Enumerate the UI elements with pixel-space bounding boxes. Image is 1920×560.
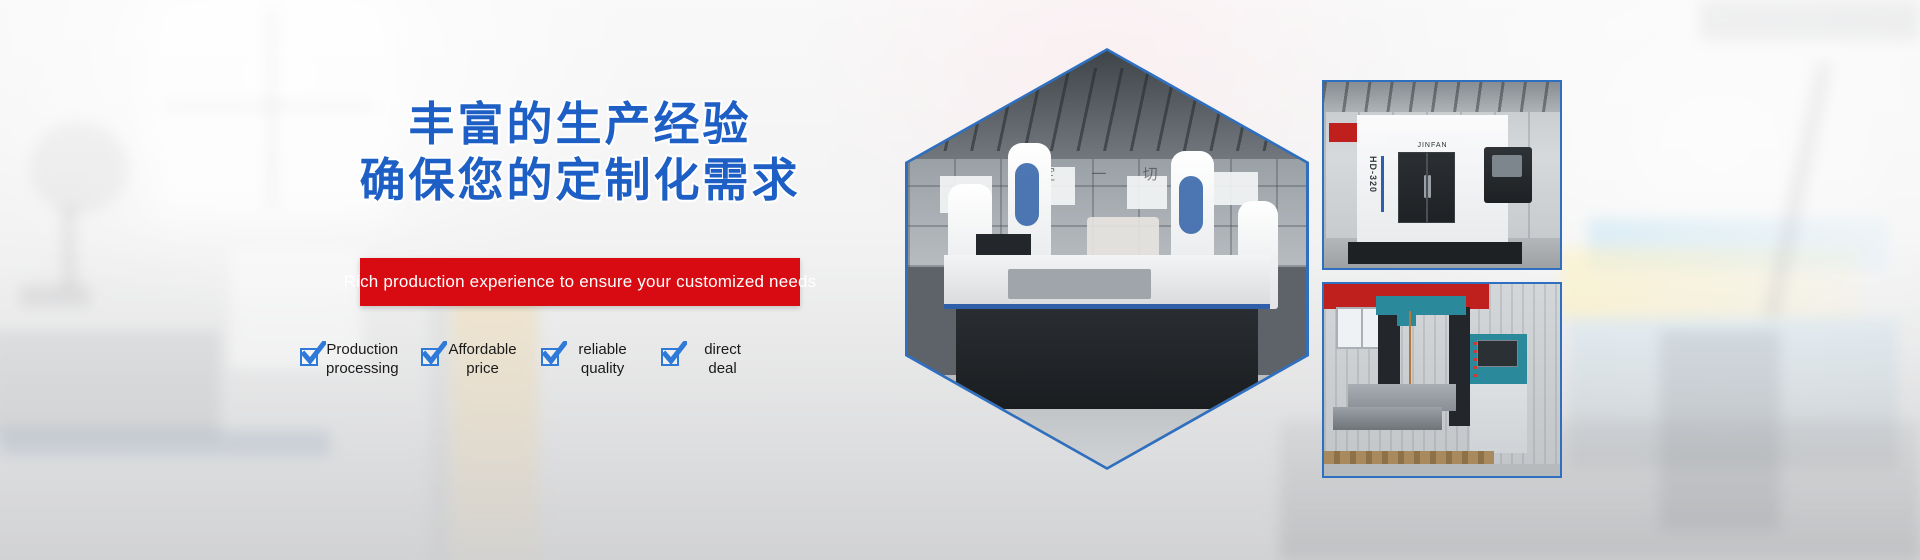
feature-item-direct-deal[interactable]: direct deal (661, 340, 759, 378)
mc-door-handle (1424, 175, 1427, 198)
side-photo-machining-center: JINFAN HD-320 (1322, 80, 1562, 270)
checkbox-checked-icon[interactable] (300, 348, 318, 366)
mc-ceiling-beam (1324, 82, 1560, 112)
subtitle-red-bar: Rich production experience to ensure you… (360, 258, 800, 306)
mc-blue-stripe (1381, 156, 1384, 212)
checkbox-checked-icon[interactable] (541, 348, 559, 366)
side-photo-edm-machine (1322, 282, 1562, 478)
feature-label: reliable quality (567, 340, 639, 378)
banner-copy-block: 丰富的生产经验 确保您的定制化需求 Rich production experi… (300, 96, 860, 208)
mc-plinth (1348, 242, 1523, 264)
feature-label: Production processing (326, 340, 399, 378)
machine-base (956, 301, 1258, 409)
workshop-window (1214, 172, 1258, 205)
machine-blue-panel (1179, 176, 1203, 234)
mc-brand-label: JINFAN (1414, 142, 1450, 149)
hexagon-photo-content: 定 一 切 (908, 51, 1306, 467)
checkbox-checked-icon[interactable] (661, 348, 679, 366)
edm-cabinet-screen (1477, 340, 1517, 367)
feature-label: direct deal (687, 340, 759, 378)
hero-banner: 丰富的生产经验 确保您的定制化需求 Rich production experi… (0, 0, 1920, 560)
edm-button-strip (1473, 342, 1478, 380)
banner-headline: 丰富的生产经验 确保您的定制化需求 (300, 96, 860, 208)
edm-floor (1324, 464, 1560, 476)
headline-line-2: 确保您的定制化需求 (300, 152, 860, 208)
edm-gantry (1376, 296, 1466, 315)
mc-control-screen (1492, 155, 1523, 177)
headline-line-1: 丰富的生产经验 (300, 96, 860, 152)
mc-model-label: HD-320 (1368, 156, 1378, 193)
mc-door-handle (1428, 175, 1431, 198)
hexagon-photo: 定 一 切 (905, 48, 1309, 470)
edm-cutting-head (1397, 299, 1416, 326)
edm-worktable (1333, 407, 1442, 430)
machine-window (1008, 269, 1151, 298)
feature-list: Production processing Affordable price r… (300, 340, 860, 378)
feature-item-reliable-quality[interactable]: reliable quality (541, 340, 639, 378)
machine-blue-panel (1015, 163, 1039, 225)
subtitle-text: Rich production experience to ensure you… (344, 272, 817, 292)
checkbox-checked-icon[interactable] (421, 348, 439, 366)
feature-item-production-processing[interactable]: Production processing (300, 340, 399, 378)
mc-enclosure-door (1398, 152, 1455, 223)
workshop-wall-text: 定 一 切 (1027, 163, 1186, 184)
feature-item-affordable-price[interactable]: Affordable price (421, 340, 519, 378)
feature-label: Affordable price (447, 340, 519, 378)
workshop-trusses (908, 68, 1306, 151)
